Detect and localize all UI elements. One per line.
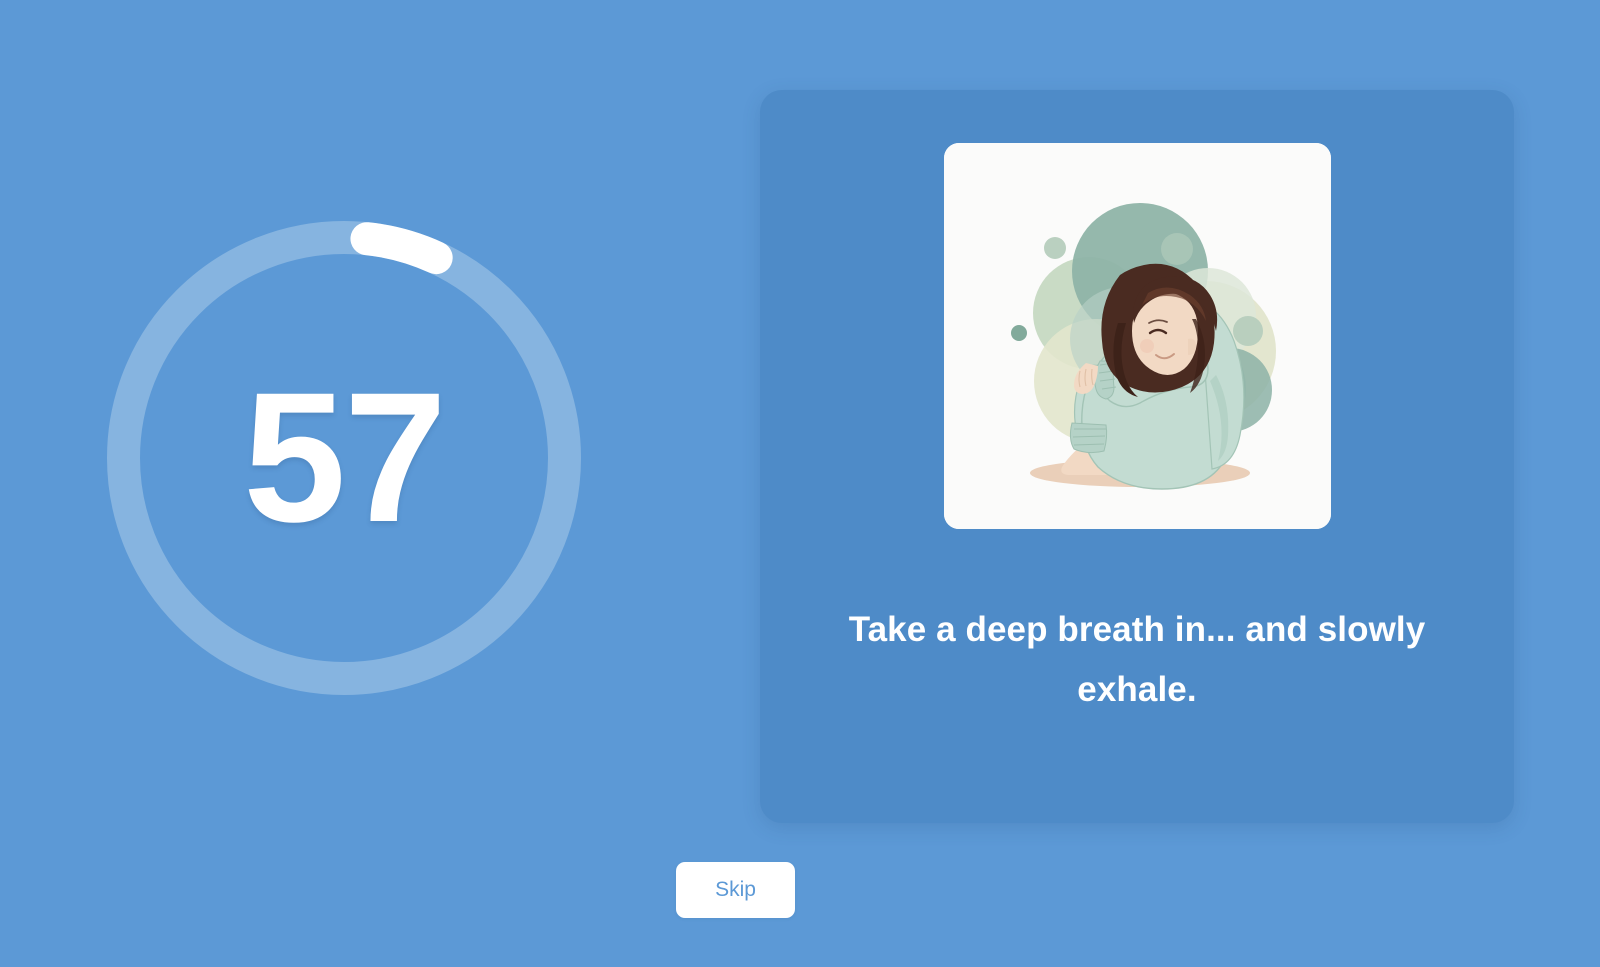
woman-hugging-knees-icon xyxy=(944,143,1331,529)
breathing-prompt-text: Take a deep breath in... and slowly exha… xyxy=(820,600,1454,720)
illustration-frame xyxy=(944,143,1331,529)
skip-button[interactable]: Skip xyxy=(676,862,795,918)
breathing-exercise-screen: 57 xyxy=(0,0,1600,967)
timer-seconds-label: 57 xyxy=(107,221,581,695)
countdown-timer: 57 xyxy=(107,221,581,695)
breathing-prompt-card: Take a deep breath in... and slowly exha… xyxy=(760,90,1514,823)
